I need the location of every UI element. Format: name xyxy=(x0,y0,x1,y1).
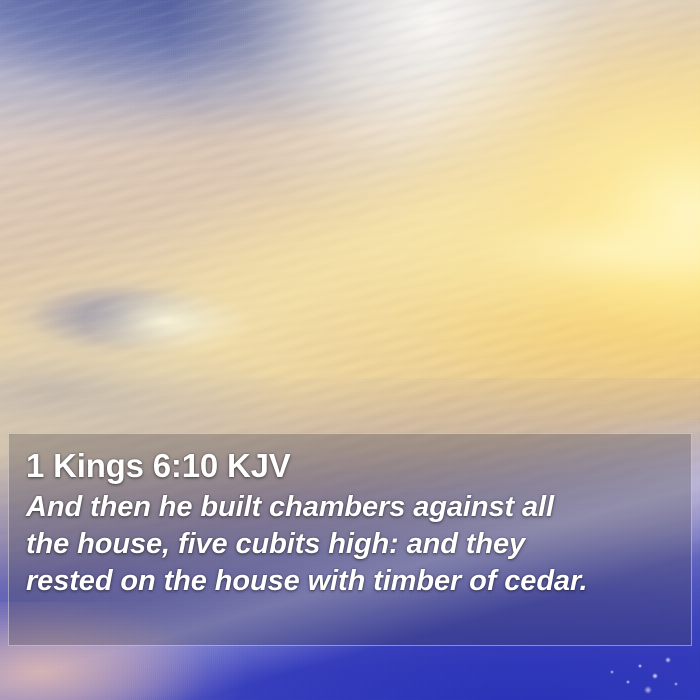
verse-text: And then he built chambers against all t… xyxy=(26,489,673,600)
verse-text-line-2: the house, five cubits high: and they xyxy=(26,526,673,563)
verse-overlay-panel: 1 Kings 6:10 KJV And then he built chamb… xyxy=(8,433,692,646)
verse-text-line-3: rested on the house with timber of cedar… xyxy=(26,563,673,600)
verse-text-line-1: And then he built chambers against all xyxy=(26,489,673,526)
verse-image-canvas: 1 Kings 6:10 KJV And then he built chamb… xyxy=(0,0,700,700)
verse-reference: 1 Kings 6:10 KJV xyxy=(26,446,673,486)
